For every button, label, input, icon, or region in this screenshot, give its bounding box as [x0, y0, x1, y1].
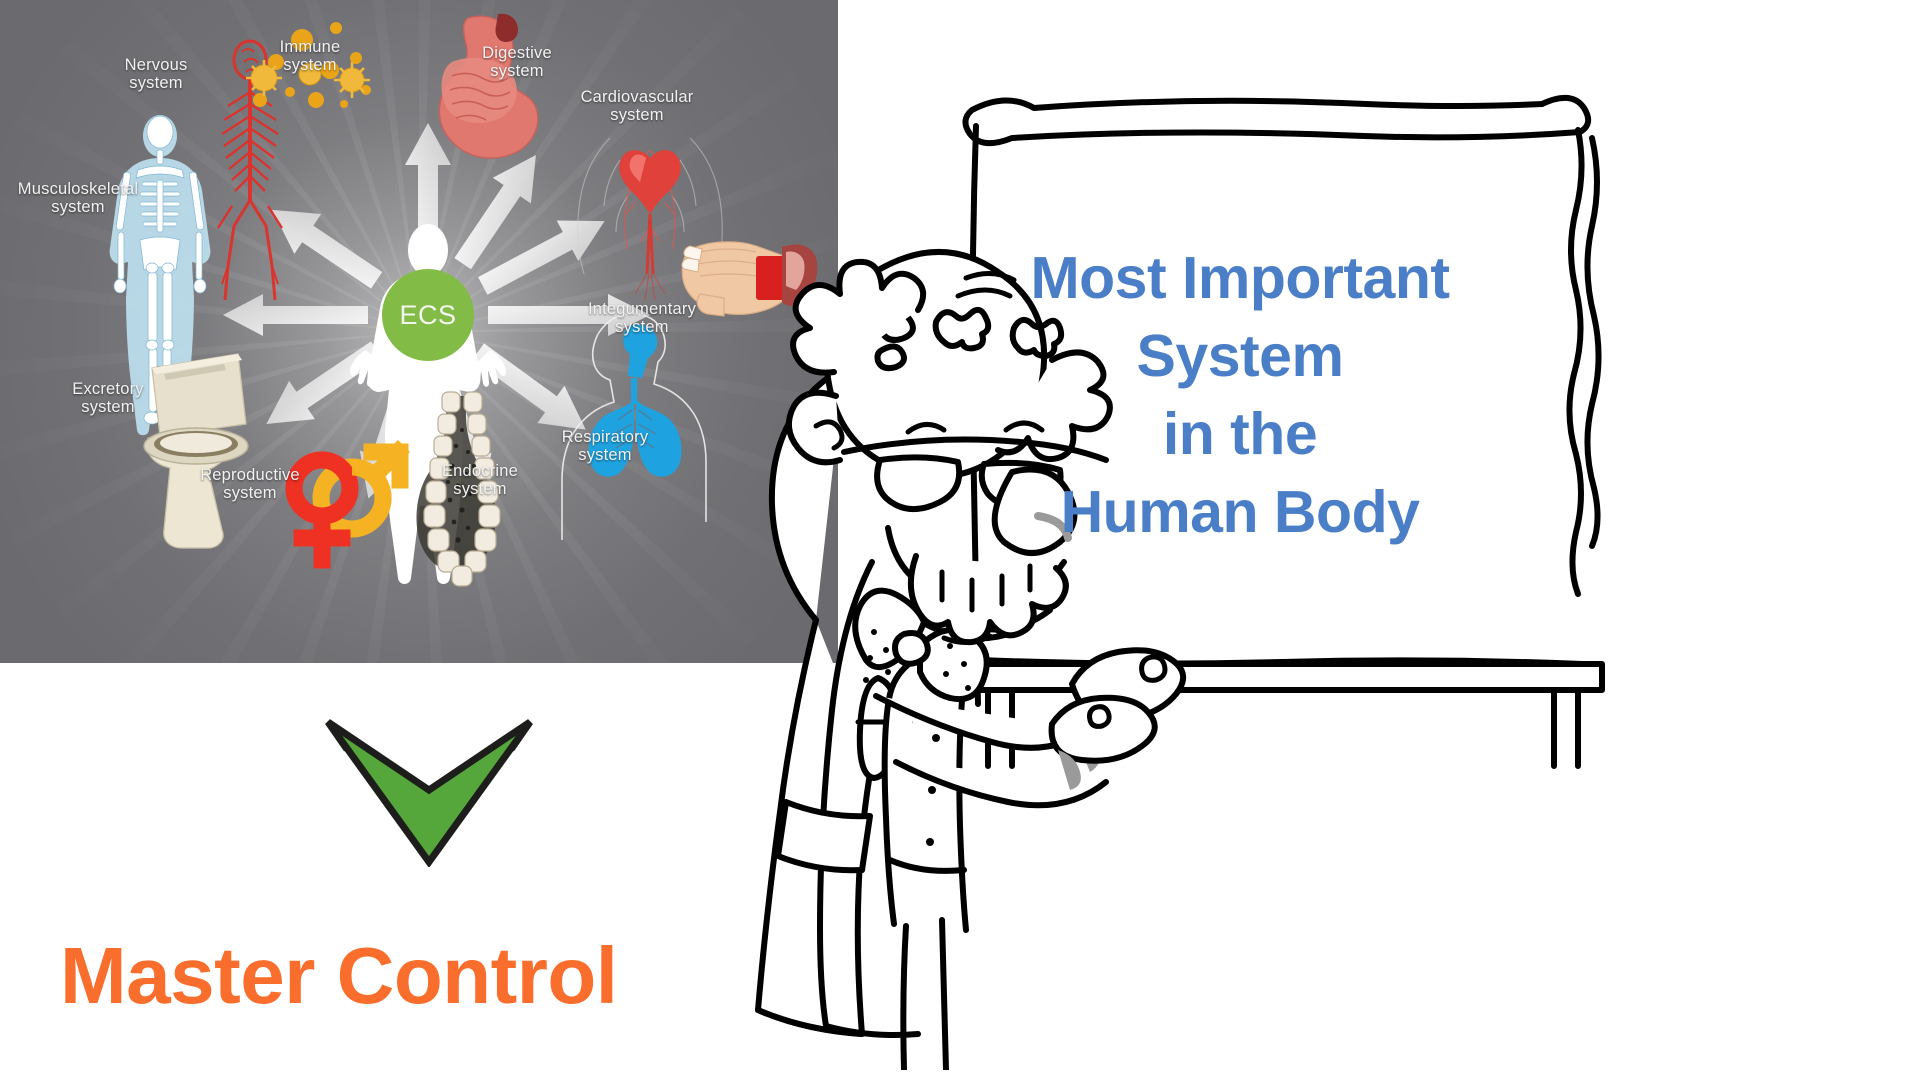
ecs-center-badge: ECS	[382, 269, 474, 361]
scene-artwork	[620, 60, 1920, 1070]
digestive-system-illustration	[439, 14, 537, 158]
immune-system-illustration	[246, 22, 371, 108]
ecs-center-label: ECS	[399, 300, 456, 331]
whiteboard-title-line-3: in the	[970, 396, 1510, 474]
whiteboard-title-line-1: Most Important	[970, 240, 1510, 318]
whiteboard-title-line-2: System	[970, 318, 1510, 396]
whiteboard-title-line-4: Human Body	[970, 474, 1510, 552]
reproductive-system-illustration	[294, 452, 400, 560]
whiteboard-title: Most Important System in the Human Body	[970, 240, 1510, 552]
professor-whiteboard-scene: Most Important System in the Human Body	[620, 60, 1920, 1070]
master-control-heading: Master Control	[60, 930, 618, 1022]
excretory-system-illustration	[144, 354, 248, 548]
down-chevron-arrow	[322, 712, 537, 867]
